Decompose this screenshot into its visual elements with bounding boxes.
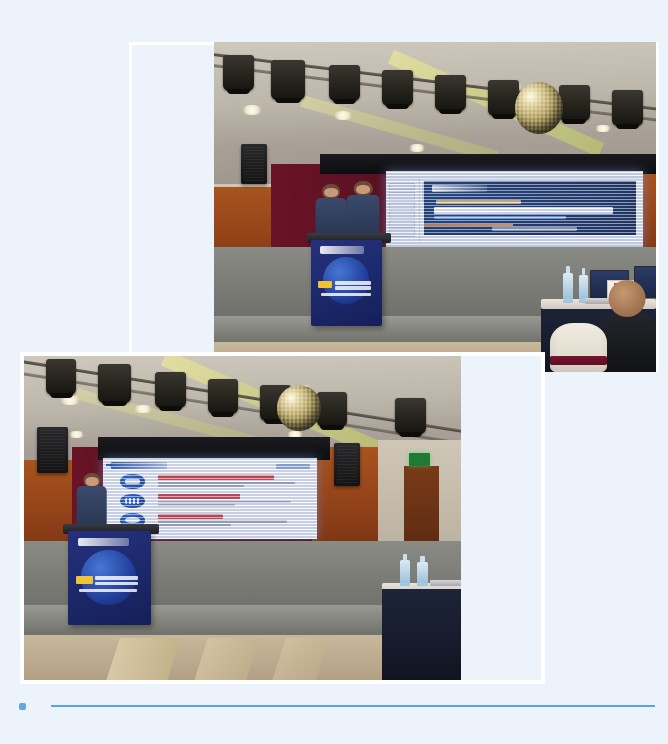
water-bottle: [417, 562, 427, 586]
speech-bubble-icon-glyph: [125, 517, 139, 523]
mirror-ball: [277, 385, 321, 430]
par-light: [435, 75, 466, 111]
attendee-head: [609, 280, 646, 317]
bullet-1-body: [158, 485, 244, 487]
podium-year: [76, 576, 93, 584]
podium-line-1: [335, 281, 372, 284]
ppt-slide-panel: [386, 179, 419, 241]
water-bottle: [563, 273, 573, 303]
slide-accent-bar: [424, 224, 513, 226]
downlight: [408, 144, 426, 151]
divider-dot: [19, 703, 26, 710]
podium-year: [318, 281, 332, 288]
photo-1-scene: [214, 42, 656, 372]
section-divider: [0, 700, 668, 716]
presenter-face: [324, 188, 338, 197]
podium-line-2: [95, 582, 138, 586]
par-light: [46, 359, 77, 395]
par-light: [208, 379, 239, 415]
par-light: [317, 392, 348, 428]
podium-line-2: [335, 286, 372, 289]
photo-2[interactable]: A presenter at the podium beside an LED …: [24, 356, 461, 680]
bullet-1-body: [158, 482, 295, 484]
downlight: [133, 405, 153, 413]
bank-chart-icon: [120, 494, 146, 509]
ppt-slide-thumb: [389, 229, 415, 236]
bullet-2-body: [158, 504, 235, 506]
ppt-slide-thumb: [389, 202, 415, 209]
podium: [68, 531, 151, 625]
podium-line-3: [321, 293, 371, 296]
slide-title-en: [434, 216, 566, 219]
slide-eyebrow: [436, 200, 521, 204]
loudspeaker: [241, 144, 268, 184]
stage-valance: [98, 437, 330, 460]
ppt-slide-thumb: [389, 183, 415, 190]
podium: [311, 240, 382, 326]
podium-line-3: [79, 589, 137, 592]
bank-chart-icon-glyph: [125, 498, 139, 504]
presenter-face: [356, 185, 370, 194]
bullet-2-title: [158, 494, 239, 499]
ppt-toolbar: [386, 171, 642, 180]
par-light: [395, 398, 426, 434]
exit-sign-icon: [409, 453, 431, 466]
water-bottle: [400, 560, 410, 586]
photo-2-scene: [24, 356, 461, 680]
ppt-slide-thumb: [389, 192, 415, 199]
par-light: [559, 85, 590, 121]
slide-canvas: [424, 181, 637, 235]
podium-line-1: [95, 576, 138, 580]
bullet-1-title: [158, 475, 274, 480]
bullet-3-body: [158, 520, 286, 522]
par-light: [329, 65, 360, 101]
laptop-icon: [120, 474, 146, 489]
bullet-3-body: [158, 524, 231, 526]
loudspeaker: [37, 427, 68, 472]
laptop-base: [430, 580, 461, 586]
attendee: [599, 313, 656, 372]
downlight: [333, 111, 353, 120]
presentation-software-window: [386, 171, 642, 249]
led-screen: [386, 171, 642, 249]
slide-logo: [276, 464, 310, 469]
downlight: [241, 105, 263, 115]
bullet-3-title: [158, 514, 222, 519]
slide-logo: [432, 185, 487, 192]
loudspeaker: [334, 443, 360, 485]
podium-logo: [320, 246, 364, 254]
mirror-ball: [515, 82, 564, 135]
ppt-slide-thumb: [389, 211, 415, 218]
podium-logo: [78, 538, 129, 546]
bullet-2-body: [158, 501, 291, 503]
photo-1[interactable]: Two presenters standing at a blue podium…: [214, 42, 656, 372]
par-light: [98, 364, 131, 403]
audience-table: [382, 589, 461, 680]
slide-heading: [111, 462, 167, 468]
laptop-icon-glyph: [125, 479, 139, 485]
par-light: [612, 90, 643, 126]
par-light: [271, 60, 304, 100]
slide-title-cn: [434, 207, 613, 214]
page-root: Two presenters standing at a blue podium…: [0, 0, 668, 744]
slide-footer: [492, 227, 577, 230]
par-light: [223, 55, 254, 91]
divider-line: [51, 705, 655, 707]
chair-sash: [550, 356, 607, 366]
par-light: [155, 372, 186, 408]
ppt-slide-thumb: [389, 220, 415, 227]
par-light: [382, 70, 413, 106]
